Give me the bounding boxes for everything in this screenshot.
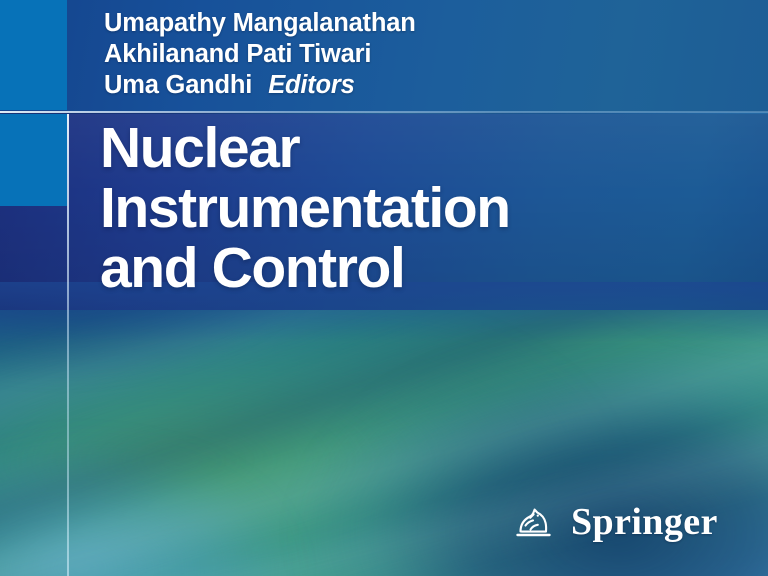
title-line-1: Nuclear [100, 118, 760, 178]
title-line-3: and Control [100, 238, 760, 298]
author-name-3: Uma Gandhi [104, 71, 252, 99]
author-name-1: Umapathy Mangalanathan [104, 8, 724, 39]
left-accent-block-top [0, 0, 67, 110]
editors-label: Editors [268, 71, 354, 99]
springer-knight-icon [511, 502, 559, 542]
book-cover: Umapathy Mangalanathan Akhilanand Pati T… [0, 0, 768, 576]
title-line-2: Instrumentation [100, 178, 760, 238]
publisher-name: Springer [571, 503, 718, 541]
publisher-logo: Springer [511, 502, 718, 542]
author-list: Umapathy Mangalanathan Akhilanand Pati T… [104, 8, 724, 101]
vertical-divider-rule [67, 114, 69, 576]
horizontal-divider-rule [0, 111, 768, 113]
left-accent-block-middle [0, 114, 67, 206]
author-line-3: Uma GandhiEditors [104, 70, 724, 101]
book-title: Nuclear Instrumentation and Control [100, 118, 760, 298]
author-name-2: Akhilanand Pati Tiwari [104, 39, 724, 70]
